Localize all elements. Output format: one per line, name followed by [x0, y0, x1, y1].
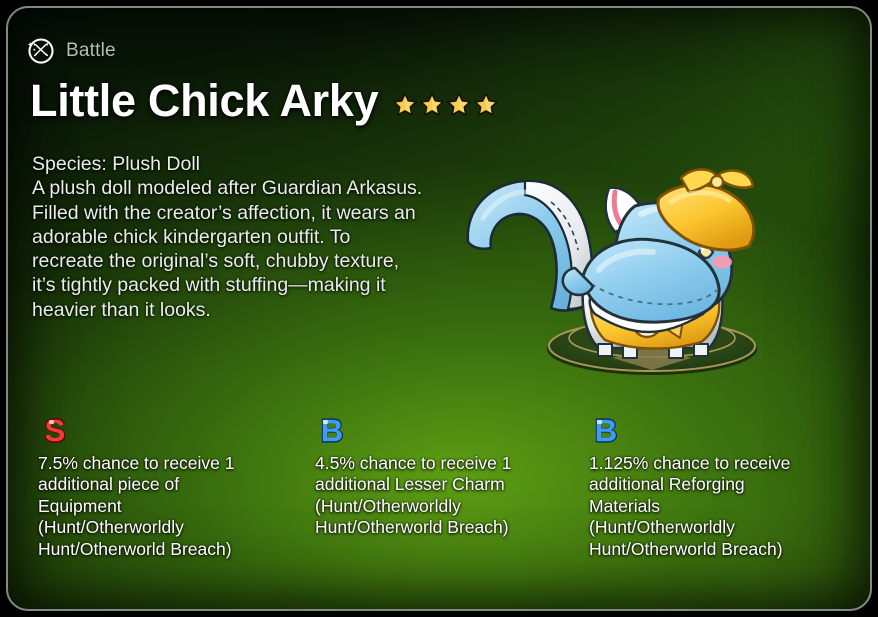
species-line: Species: Plush Doll	[32, 152, 494, 176]
star-icon	[446, 92, 472, 118]
character-blush	[712, 256, 732, 269]
stat-description: 4.5% chance to receive 1 additional Less…	[315, 453, 591, 539]
rank-b-icon: B B	[315, 412, 349, 450]
crossed-swords-icon	[26, 36, 56, 66]
svg-text:S: S	[45, 413, 66, 448]
stat-entry: S S 7.5% chance to receive 1 additional …	[36, 412, 316, 592]
page-title: Little Chick Arky	[30, 78, 378, 123]
star-icon	[392, 92, 418, 118]
rarity-stars	[392, 92, 499, 118]
description-text: A plush doll modeled after Guardian Arka…	[32, 176, 494, 322]
description-block: Species: Plush Doll A plush doll modeled…	[32, 152, 494, 322]
svg-text:B: B	[321, 413, 343, 448]
character-artwork	[463, 158, 813, 383]
category-label: Battle	[66, 40, 116, 62]
stat-entry: B B 4.5% chance to receive 1 additional …	[313, 412, 591, 592]
category-row: Battle	[26, 36, 116, 66]
rank-b-icon: B B	[589, 412, 623, 450]
stats-row: S S 7.5% chance to receive 1 additional …	[8, 412, 872, 592]
title-row: Little Chick Arky	[30, 78, 499, 123]
rank-s-icon: S S	[38, 412, 72, 450]
stat-entry: B B 1.125% chance to receive additional …	[587, 412, 857, 592]
svg-text:B: B	[595, 413, 617, 448]
star-icon	[419, 92, 445, 118]
star-icon	[473, 92, 499, 118]
stat-description: 1.125% chance to receive additional Refo…	[589, 453, 857, 560]
character-info-card: Battle Little Chick Arky Species: Plush …	[6, 6, 872, 611]
stat-description: 7.5% chance to receive 1 additional piec…	[38, 453, 316, 560]
